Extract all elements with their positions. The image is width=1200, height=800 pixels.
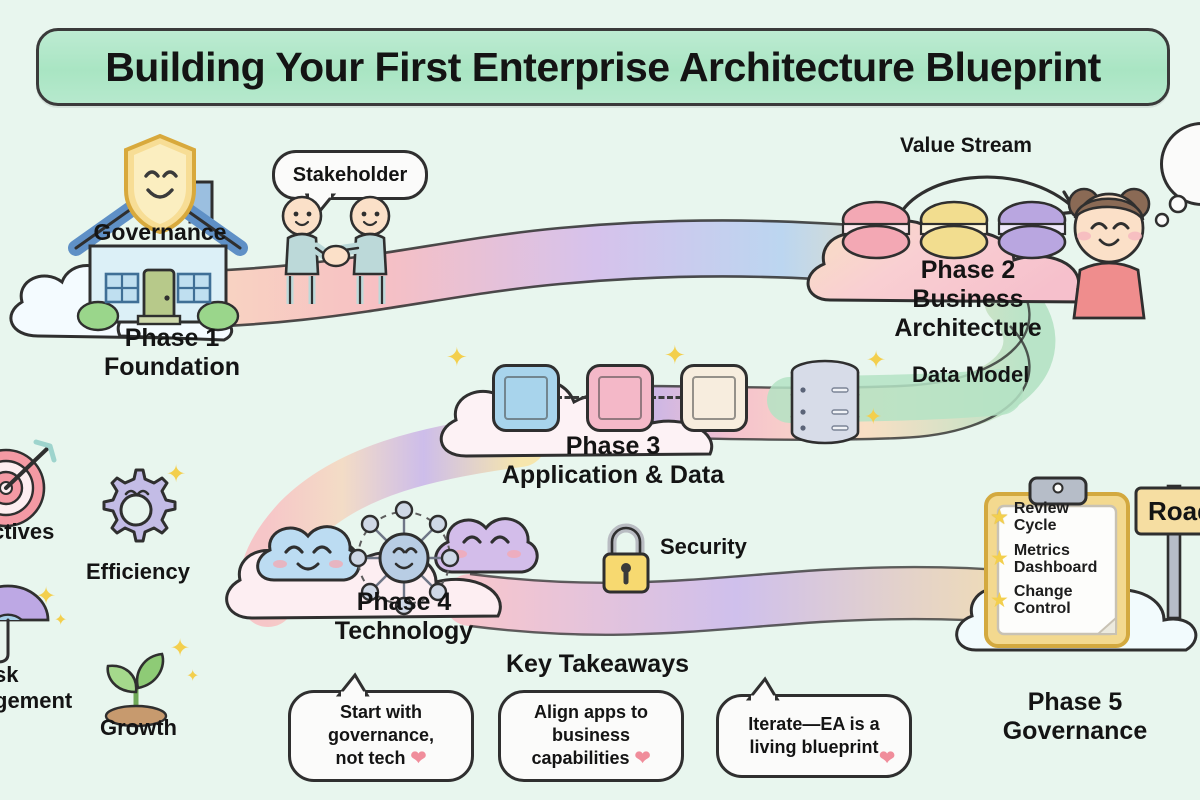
takeaway-3-line2: living blueprint (749, 737, 878, 757)
risk-label-line2: gement (0, 688, 72, 714)
risk-management-label: sk gement (0, 662, 72, 714)
sparkle-icon: ✦ (864, 404, 882, 430)
star-icon: ★ (990, 505, 1009, 530)
app-tile-3 (680, 364, 748, 432)
checklist-2-line1: Metrics (1014, 542, 1098, 559)
padlock-icon (596, 520, 656, 596)
security-label: Security (660, 534, 747, 560)
checklist-3-line1: Change (1014, 583, 1073, 600)
sparkle-icon: ✦ (866, 346, 886, 375)
star-icon: ★ (990, 588, 1009, 613)
heart-icon: ❤ (411, 747, 427, 771)
growth-label: Growth (100, 716, 177, 741)
takeaway-2-line2: business (532, 724, 651, 747)
page-title-banner: Building Your First Enterprise Architect… (36, 28, 1170, 106)
governance-checklist: ★ Review Cycle ★ Metrics Dashboard ★ Cha… (990, 500, 1140, 618)
phase-4-name: Technology (304, 617, 504, 646)
page-title: Building Your First Enterprise Architect… (105, 44, 1101, 91)
stakeholder-label: Stakeholder (293, 164, 407, 187)
database-icon (786, 358, 864, 444)
sparkle-icon: ✦ (166, 460, 186, 489)
sparkle-icon: ✦ (186, 666, 199, 686)
phase-1-label: Phase 1 Foundation (62, 324, 282, 382)
key-takeaways-heading: Key Takeaways (506, 650, 689, 678)
takeaway-1-line2: governance, (328, 724, 434, 747)
target-arrow-icon (0, 438, 58, 530)
risk-label-line1: sk (0, 662, 72, 688)
sparkle-icon: ✦ (664, 340, 686, 371)
checklist-2-line2: Dashboard (1014, 559, 1098, 576)
star-icon: ★ (990, 546, 1009, 571)
objectives-label: ctives (0, 520, 54, 545)
phase-5-name: Governance (990, 717, 1160, 746)
roadmap-sign-label: Road (1148, 496, 1200, 526)
handshake-people-icon (272, 192, 402, 312)
phase-5-label: Phase 5 Governance (990, 688, 1160, 746)
checklist-3-line2: Control (1014, 600, 1073, 617)
heart-icon: ❤ (879, 747, 895, 771)
customer-journey-thought-bubble: Cus Jo (1150, 118, 1200, 228)
phase-1-name: Foundation (62, 353, 282, 382)
phase-1-number: Phase 1 (62, 324, 282, 353)
sparkle-icon: ✦ (170, 634, 190, 663)
phase-3-label: Phase 3 Application & Data (488, 432, 738, 490)
data-model-label: Data Model (912, 362, 1032, 387)
sparkle-icon: ✦ (36, 582, 56, 611)
illustration-canvas: Building Your First Enterprise Architect… (0, 0, 1200, 800)
checklist-1-line2: Cycle (1014, 517, 1069, 534)
phase-3-number: Phase 3 (488, 432, 738, 461)
house-governance-label: Governance (60, 220, 260, 246)
takeaway-bubble-2: Align apps to business capabilities ❤ (498, 690, 684, 782)
app-tile-2 (586, 364, 654, 432)
phase-4-number: Phase 4 (304, 588, 504, 617)
phase-2-name: Business Architecture (840, 285, 1096, 343)
phase-4-label: Phase 4 Technology (304, 588, 504, 646)
phase-3-name: Application & Data (488, 461, 738, 490)
takeaway-bubble-3: Iterate—EA is a living blueprint ❤ (716, 694, 912, 778)
value-stream-label: Value Stream (900, 134, 1032, 158)
efficiency-label: Efficiency (86, 560, 190, 585)
heart-icon: ❤ (635, 747, 651, 771)
takeaway-1-line1: Start with (328, 701, 434, 724)
phase-2-number: Phase 2 (840, 256, 1096, 285)
sparkle-icon: ✦ (54, 610, 67, 630)
sparkle-icon: ✦ (446, 342, 468, 373)
app-tile-1 (492, 364, 560, 432)
takeaway-2-line1: Align apps to (532, 701, 651, 724)
takeaway-2-line3: capabilities (532, 748, 630, 768)
signpost-icon: Road (1132, 466, 1200, 626)
takeaway-1-line3: not tech (336, 748, 406, 768)
checklist-1-line1: Review (1014, 500, 1069, 517)
takeaway-bubble-1: Start with governance, not tech ❤ (288, 690, 474, 782)
takeaway-3-line1: Iterate—EA is a (748, 713, 879, 736)
phase-5-number: Phase 5 (990, 688, 1160, 717)
phase-2-label: Phase 2 Business Architecture (840, 256, 1096, 343)
